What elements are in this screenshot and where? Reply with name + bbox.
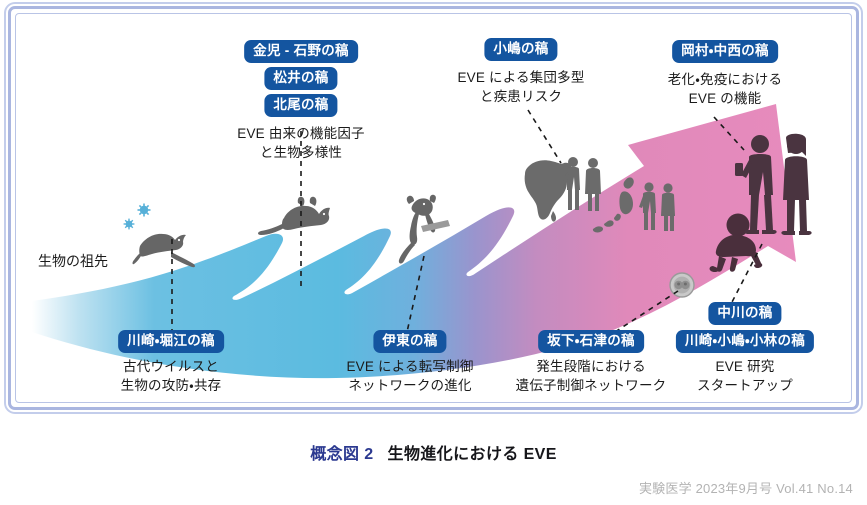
badge-matsui[interactable]: 松井の稿 xyxy=(264,67,337,90)
leader-line-startup xyxy=(731,244,762,304)
badge-nakagawa[interactable]: 中川の稿 xyxy=(708,302,781,325)
caption-line: EVE の機能 xyxy=(668,89,782,108)
crawling-baby-icon xyxy=(710,214,763,273)
badge-kojima[interactable]: 小嶋の稿 xyxy=(484,38,557,61)
caption-line: 生物の攻防・共存 xyxy=(121,376,222,395)
badge-kawasaki-kojima-kobayashi[interactable]: 川崎・小嶋・小林の稿 xyxy=(676,330,814,353)
embryo-two-cell-icon xyxy=(670,273,694,297)
caption-line: EVE 研究 xyxy=(697,357,793,376)
caption-line: EVE による集団多型 xyxy=(457,68,584,87)
caption-eve-functional-factors: EVE 由来の機能因子 と生物多様性 xyxy=(237,124,364,162)
caption-line: スタートアップ xyxy=(697,376,793,395)
caption-developmental-network: 発生段階における 遺伝子制御ネットワーク xyxy=(516,357,667,395)
figure-frame: 生物の祖先 金児 - 石野の稿 松井の稿 北尾の稿 EVE 由来の機能因子 と生… xyxy=(8,6,859,410)
africa-map-icon xyxy=(525,160,572,221)
badge-kaneko-ishino[interactable]: 金児 - 石野の稿 xyxy=(244,40,358,63)
caption-ancient-virus: 古代ウイルスと 生物の攻防・共存 xyxy=(121,357,222,395)
badge-sakashita-ishizu[interactable]: 坂下・石津の稿 xyxy=(538,330,644,353)
caption-aging-immunity: 老化・免疫における EVE の機能 xyxy=(668,70,782,108)
human-pair-japan-icon xyxy=(639,182,675,231)
caption-line: EVE 由来の機能因子 xyxy=(237,124,364,143)
caption-line: EVE による転写制御 xyxy=(346,357,473,376)
caption-line: と疾患リスク xyxy=(457,87,584,106)
caption-line: 老化・免疫における xyxy=(668,70,782,89)
caption-transcription-network: EVE による転写制御 ネットワークの進化 xyxy=(346,357,473,395)
caption-line: と生物多様性 xyxy=(237,143,364,162)
human-pair-africa-icon xyxy=(562,157,601,211)
caption-line: 古代ウイルスと xyxy=(121,357,222,376)
figure-caption-title: 生物進化における EVE xyxy=(388,446,557,463)
badge-kawasaki-horie[interactable]: 川崎・堀江の稿 xyxy=(118,330,224,353)
caption-line: 遺伝子制御ネットワーク xyxy=(516,376,667,395)
figure-caption-number: 概念図 2 xyxy=(310,446,373,463)
source-citation: 実験医学 2023年9月号 Vol.41 No.14 xyxy=(639,478,853,497)
figure-caption: 概念図 2生物進化における EVE xyxy=(0,440,867,464)
origin-label: 生物の祖先 xyxy=(38,251,108,271)
caption-eve-startup: EVE 研究 スタートアップ xyxy=(697,357,793,395)
caption-line: ネットワークの進化 xyxy=(346,376,473,395)
primitive-mammal-icon xyxy=(133,234,196,267)
japan-map-icon xyxy=(593,177,634,232)
caption-population-polymorphism: EVE による集団多型 と疾患リスク xyxy=(457,68,584,106)
leader-line-aging xyxy=(714,117,744,150)
badge-kitao[interactable]: 北尾の稿 xyxy=(264,94,337,117)
leader-line-population xyxy=(528,110,561,163)
figure-inner-frame: 生物の祖先 金児 - 石野の稿 松井の稿 北尾の稿 EVE 由来の機能因子 と生… xyxy=(15,13,852,403)
leader-line-transcription xyxy=(407,256,424,332)
caption-line: 発生段階における xyxy=(516,357,667,376)
leader-line-developmental xyxy=(612,291,678,334)
monkey-icon xyxy=(399,195,450,264)
virus-particles-icon xyxy=(124,204,151,230)
modern-human-pair-icon xyxy=(735,134,812,235)
badge-ito[interactable]: 伊東の稿 xyxy=(373,330,446,353)
badge-okamura-nakanishi[interactable]: 岡村・中西の稿 xyxy=(672,40,778,63)
mouse-icon xyxy=(258,197,330,235)
